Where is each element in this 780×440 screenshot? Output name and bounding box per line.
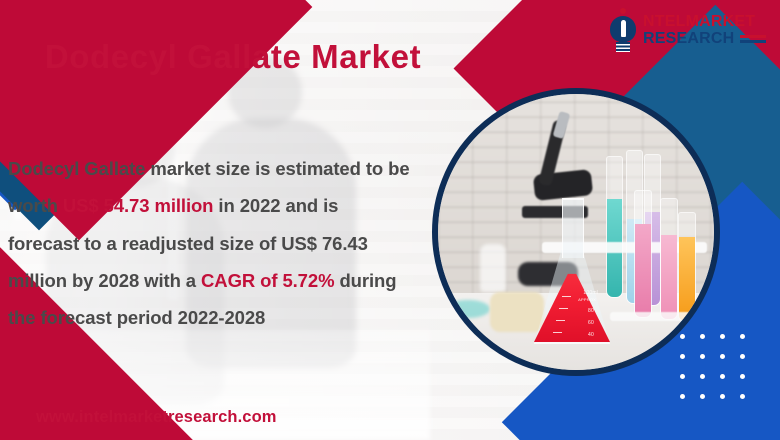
petri-dish — [446, 300, 490, 318]
highlighted-figure: US$ 54.73 million — [63, 195, 213, 216]
lightbulb-icon — [608, 8, 638, 54]
website-url[interactable]: www.intelmarketresearch.com — [36, 408, 277, 427]
test-tube-rack-lower — [610, 312, 710, 321]
laboratory-photo-circle: 100ml APPROX 80 60 40 — [432, 88, 720, 376]
logo-text-research: RESEARCH — [643, 31, 734, 48]
market-summary-text: Dodecyl Gallate market size is estimated… — [8, 150, 412, 337]
test-tube — [634, 190, 652, 318]
logo-text-intelmarket: NTELMARKET — [643, 14, 766, 31]
erlenmeyer-flask-icon: 100ml APPROX 80 60 40 — [534, 198, 610, 342]
highlighted-figure: CAGR of 5.72% — [201, 270, 334, 291]
logo-bars-icon — [740, 35, 766, 43]
brand-logo[interactable]: NTELMARKET RESEARCH — [608, 8, 766, 54]
page-title: Dodecyl Gallate Market — [18, 36, 448, 78]
market-report-banner: 100ml APPROX 80 60 40 NTELMARKET RESEARC… — [0, 0, 780, 440]
test-tube — [660, 198, 678, 320]
test-tube — [678, 212, 696, 322]
